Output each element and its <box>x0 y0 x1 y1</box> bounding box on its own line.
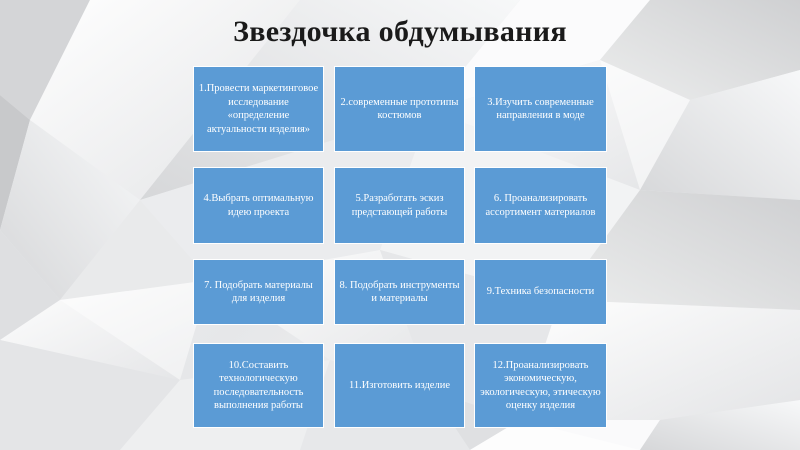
step-box-11[interactable]: 11.Изготовить изделие <box>334 343 465 428</box>
page-title: Звездочка обдумывания <box>0 12 800 52</box>
step-box-12[interactable]: 12.Проанализировать экономическую, эколо… <box>474 343 607 428</box>
step-box-8-label: 8. Подобрать инструменты и материалы <box>339 279 460 306</box>
step-box-4-label: 4.Выбрать оптимальную идею проекта <box>198 192 319 219</box>
step-box-4[interactable]: 4.Выбрать оптимальную идею проекта <box>193 167 324 244</box>
step-box-2[interactable]: 2.современные прототипы костюмов <box>334 66 465 152</box>
step-box-8[interactable]: 8. Подобрать инструменты и материалы <box>334 259 465 325</box>
step-box-3[interactable]: 3.Изучить современные направления в моде <box>474 66 607 152</box>
step-box-1[interactable]: 1.Провести маркетинговое исследование «о… <box>193 66 324 152</box>
step-box-3-label: 3.Изучить современные направления в моде <box>479 96 602 123</box>
step-box-12-label: 12.Проанализировать экономическую, эколо… <box>479 359 602 413</box>
step-box-6-label: 6. Проанализировать ассортимент материал… <box>479 192 602 219</box>
step-box-7[interactable]: 7. Подобрать материалы для изделия <box>193 259 324 325</box>
step-box-5[interactable]: 5.Разработать эскиз предстающей работы <box>334 167 465 244</box>
step-box-11-label: 11.Изготовить изделие <box>339 379 460 393</box>
step-box-10-label: 10.Составить технологическую последовате… <box>198 359 319 413</box>
step-box-1-label: 1.Провести маркетинговое исследование «о… <box>198 82 319 136</box>
step-box-5-label: 5.Разработать эскиз предстающей работы <box>339 192 460 219</box>
slide-canvas: Звездочка обдумывания 1.Провести маркети… <box>0 0 800 450</box>
step-box-9[interactable]: 9.Техника безопасности <box>474 259 607 325</box>
step-box-6[interactable]: 6. Проанализировать ассортимент материал… <box>474 167 607 244</box>
steps-grid: 1.Провести маркетинговое исследование «о… <box>193 66 607 428</box>
step-box-9-label: 9.Техника безопасности <box>479 285 602 299</box>
step-box-7-label: 7. Подобрать материалы для изделия <box>198 279 319 306</box>
step-box-2-label: 2.современные прототипы костюмов <box>339 96 460 123</box>
step-box-10[interactable]: 10.Составить технологическую последовате… <box>193 343 324 428</box>
